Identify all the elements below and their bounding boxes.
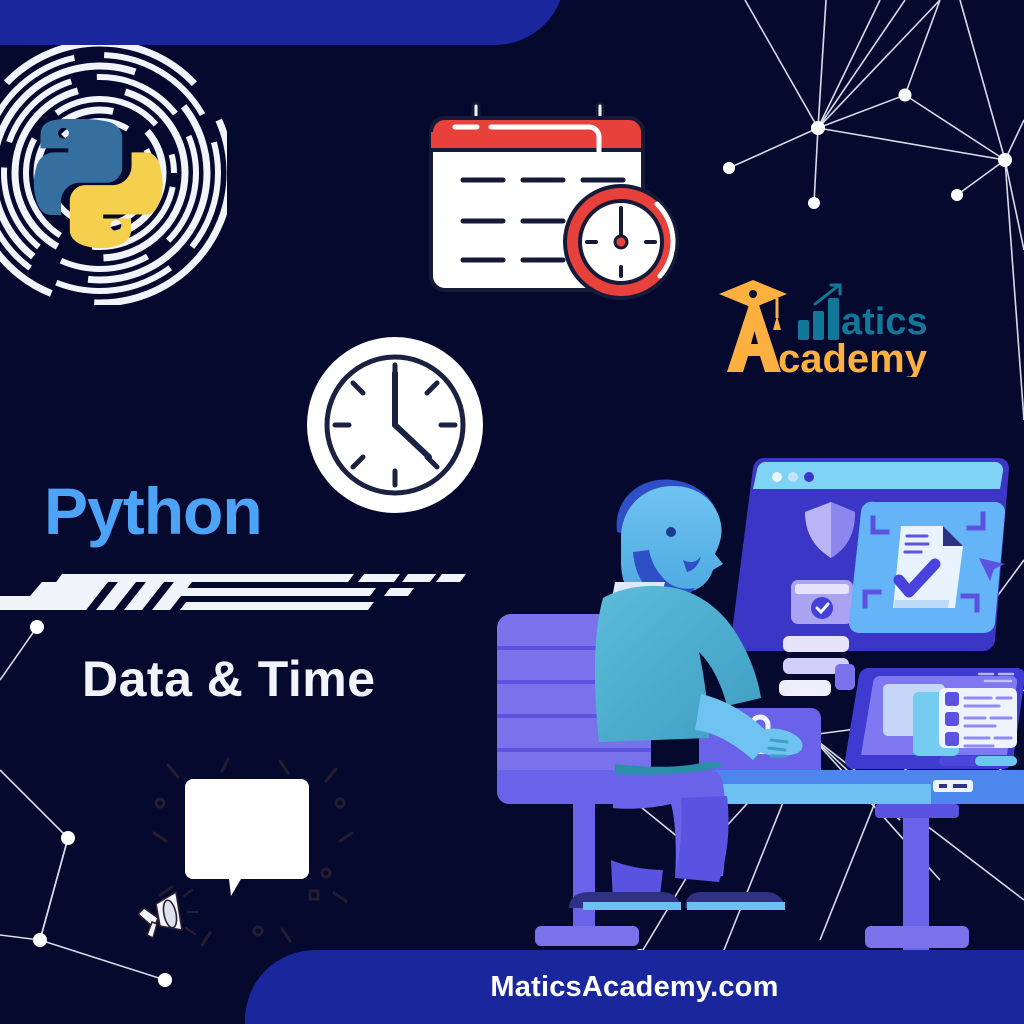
tech-stripe-divider-icon (0, 560, 470, 632)
python-logo-icon (0, 33, 227, 305)
monitor (731, 458, 1009, 696)
man-at-desk-illustration (495, 440, 1024, 952)
logo-text-cademy: cademy (778, 337, 928, 377)
calendar-icon (425, 100, 695, 305)
page-subtitle-data-time: Data & Time (82, 650, 376, 708)
footer-website[interactable]: MaticsAcademy.com (245, 950, 1024, 1024)
page-title-python: Python (44, 473, 262, 549)
wall-clock-icon (295, 333, 495, 518)
poster-canvas: atics cademy Python Data & Time (0, 0, 1024, 1024)
logo-matics-academy[interactable]: atics cademy (705, 272, 950, 377)
speech-bubble-icon (175, 775, 310, 900)
megaphone-icon (130, 888, 200, 946)
